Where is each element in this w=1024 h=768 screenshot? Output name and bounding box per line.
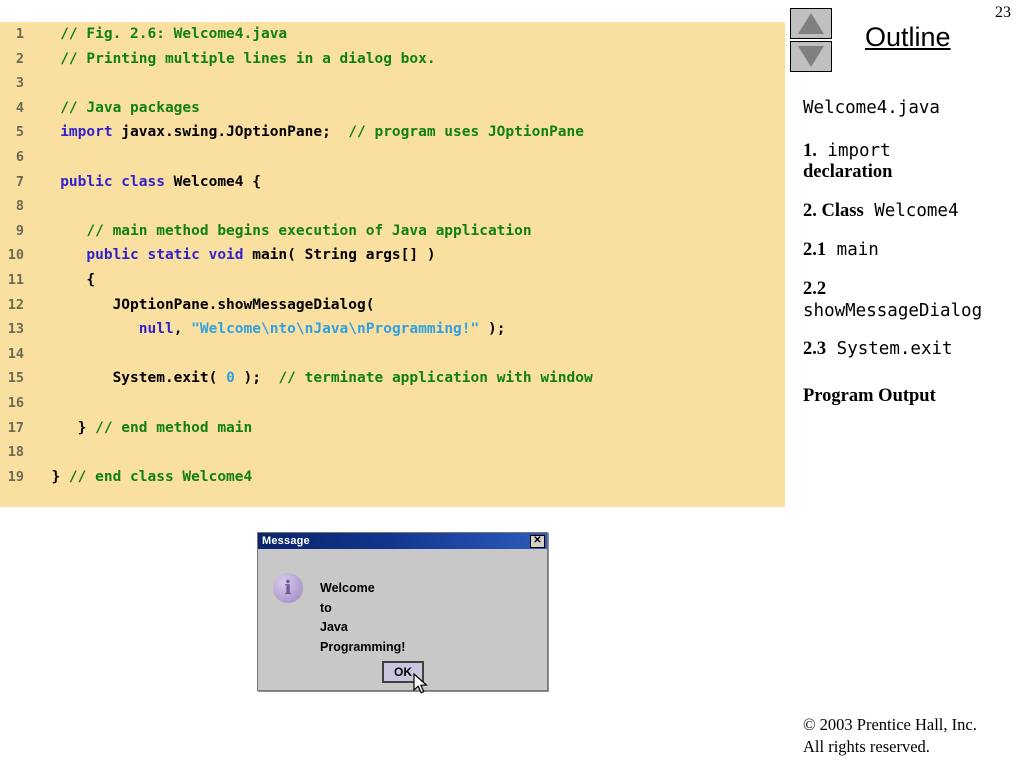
code-line-number: 10 (0, 247, 34, 263)
code-line-text: } // end method main (34, 420, 252, 436)
code-token: main( String args[] ) (244, 247, 436, 263)
close-icon[interactable]: ✕ (530, 535, 545, 548)
code-line: 8 (0, 198, 785, 223)
slide-navigation-arrows (790, 8, 832, 74)
code-token: javax.swing.JOptionPane; (113, 124, 349, 140)
outline-item-label: Welcome4 (864, 201, 959, 221)
outline-item-label: 2.1 (803, 240, 826, 260)
code-line-number: 12 (0, 297, 34, 313)
outline-item[interactable]: 2.3 System.exit (803, 339, 1024, 361)
dialog-body: ℹ WelcometoJavaProgramming! OK (258, 549, 547, 690)
code-line: 7 public class Welcome4 { (0, 174, 785, 199)
code-token: null (34, 321, 174, 337)
outline-item-label: 2. Class (803, 201, 864, 221)
dialog-message-line: to (320, 599, 405, 619)
code-line-number: 9 (0, 223, 34, 239)
outline-item[interactable]: 2.1 main (803, 240, 1024, 262)
code-line: 2 // Printing multiple lines in a dialog… (0, 51, 785, 76)
code-token: ); (479, 321, 505, 337)
code-token: } (34, 420, 95, 436)
code-line-number: 8 (0, 198, 34, 214)
code-line-number: 14 (0, 346, 34, 362)
outline-item-label: 1. (803, 141, 817, 161)
code-token: System.exit( (34, 370, 226, 386)
outline-item-label: Program Output (803, 386, 936, 406)
code-token: // Fig. 2.6: Welcome4.java (34, 26, 287, 42)
outline-item-list: Welcome4.java 1. import declaration2. Cl… (803, 98, 1024, 425)
outline-item[interactable]: 1. import declaration (803, 141, 1024, 185)
code-line: 12 JOptionPane.showMessageDialog( (0, 297, 785, 322)
dialog-title: Message (262, 535, 310, 547)
info-icon: ℹ (273, 573, 303, 603)
code-line-number: 5 (0, 124, 34, 140)
code-line-number: 2 (0, 51, 34, 67)
outline-entries: 1. import declaration2. Class Welcome42.… (803, 141, 1024, 409)
info-icon-glyph: ℹ (273, 573, 303, 603)
code-line-text: // main method begins execution of Java … (34, 223, 532, 239)
triangle-up-icon (798, 13, 824, 34)
outline-item[interactable]: Program Output (803, 386, 1024, 408)
code-line-number: 16 (0, 395, 34, 411)
code-token: JOptionPane.showMessageDialog( (34, 297, 374, 313)
code-token: { (34, 272, 95, 288)
code-line: 18 (0, 444, 785, 469)
code-line-number: 13 (0, 321, 34, 337)
code-line: 9 // main method begins execution of Jav… (0, 223, 785, 248)
scroll-down-button[interactable] (790, 41, 832, 72)
code-line-number: 11 (0, 272, 34, 288)
outline-item[interactable]: 2.2showMessageDialog (803, 279, 1024, 322)
code-line-text: } // end class Welcome4 (34, 469, 252, 485)
dialog-message-line: Java (320, 618, 405, 638)
code-line: 5 import javax.swing.JOptionPane; // pro… (0, 124, 785, 149)
code-line: 3 (0, 75, 785, 100)
code-token: // main method begins execution of Java … (34, 223, 532, 239)
copyright-line-1: © 2003 Prentice Hall, Inc. (803, 714, 977, 736)
code-line-number: 4 (0, 100, 34, 116)
code-token: , (174, 321, 191, 337)
code-line-text: null, "Welcome\nto\nJava\nProgramming!" … (34, 321, 505, 337)
code-line-number: 17 (0, 420, 34, 436)
code-listing-panel: 1 // Fig. 2.6: Welcome4.java2 // Printin… (0, 22, 785, 507)
code-line: 13 null, "Welcome\nto\nJava\nProgramming… (0, 321, 785, 346)
dialog-message-line: Welcome (320, 579, 405, 599)
outline-title: Outline (865, 22, 951, 53)
code-token: public static void (34, 247, 244, 263)
code-line: 19 } // end class Welcome4 (0, 469, 785, 494)
outline-item[interactable]: 2. Class Welcome4 (803, 201, 1024, 223)
outline-filename: Welcome4.java (803, 98, 1024, 119)
code-token: public class (34, 174, 165, 190)
code-token: Welcome4 { (165, 174, 261, 190)
ok-button[interactable]: OK (382, 661, 424, 683)
page-number: 23 (995, 4, 1011, 22)
copyright-line-2: All rights reserved. (803, 736, 977, 758)
code-line-text: // Printing multiple lines in a dialog b… (34, 51, 436, 67)
outline-item-label: declaration (803, 162, 892, 182)
outline-item-label: 2.2 (803, 279, 826, 299)
code-line-number: 19 (0, 469, 34, 485)
outline-item-label: System.exit (826, 339, 952, 359)
code-line-text: import javax.swing.JOptionPane; // progr… (34, 124, 584, 140)
scroll-up-button[interactable] (790, 8, 832, 39)
code-line-text: JOptionPane.showMessageDialog( (34, 297, 374, 313)
code-line-number: 7 (0, 174, 34, 190)
code-line: 4 // Java packages (0, 100, 785, 125)
dialog-titlebar[interactable]: Message ✕ (258, 533, 547, 549)
code-line: 6 (0, 149, 785, 174)
code-token: ); (235, 370, 279, 386)
code-token: "Welcome\nto\nJava\nProgramming!" (191, 321, 479, 337)
code-token: // end class Welcome4 (69, 469, 252, 485)
code-token: // program uses JOptionPane (348, 124, 584, 140)
code-line-number: 6 (0, 149, 34, 165)
code-token: // Printing multiple lines in a dialog b… (34, 51, 436, 67)
code-line-number: 18 (0, 444, 34, 460)
code-line-text: // Fig. 2.6: Welcome4.java (34, 26, 287, 42)
code-line: 17 } // end method main (0, 420, 785, 445)
code-line-text: public class Welcome4 { (34, 174, 261, 190)
code-line-text: public static void main( String args[] ) (34, 247, 436, 263)
code-line: 1 // Fig. 2.6: Welcome4.java (0, 26, 785, 51)
code-token: 0 (226, 370, 235, 386)
outline-item-label: import (817, 141, 891, 161)
code-line: 16 (0, 395, 785, 420)
code-line: 10 public static void main( String args[… (0, 247, 785, 272)
outline-item-label: main (826, 240, 879, 260)
code-line-text: System.exit( 0 ); // terminate applicati… (34, 370, 593, 386)
copyright-footer: © 2003 Prentice Hall, Inc. All rights re… (803, 714, 977, 758)
triangle-down-icon (798, 46, 824, 67)
code-line: 15 System.exit( 0 ); // terminate applic… (0, 370, 785, 395)
outline-sidebar: Outline 23 Welcome4.java 1. import decla… (790, 0, 1024, 768)
code-line-number: 3 (0, 75, 34, 91)
code-token: // end method main (95, 420, 252, 436)
code-line: 14 (0, 346, 785, 371)
dialog-message-line: Programming! (320, 638, 405, 658)
code-token: } (34, 469, 69, 485)
code-line-number: 1 (0, 26, 34, 42)
code-token: // terminate application with window (278, 370, 592, 386)
dialog-message-text: WelcometoJavaProgramming! (320, 579, 405, 657)
code-line-number: 15 (0, 370, 34, 386)
outline-item-label: 2.3 (803, 339, 826, 359)
code-token: // Java packages (34, 100, 200, 116)
code-line-text: // Java packages (34, 100, 200, 116)
code-token: import (34, 124, 113, 140)
outline-item-label: showMessageDialog (803, 301, 982, 321)
code-line-text: { (34, 272, 95, 288)
message-dialog[interactable]: Message ✕ ℹ WelcometoJavaProgramming! OK (257, 532, 548, 691)
code-line: 11 { (0, 272, 785, 297)
